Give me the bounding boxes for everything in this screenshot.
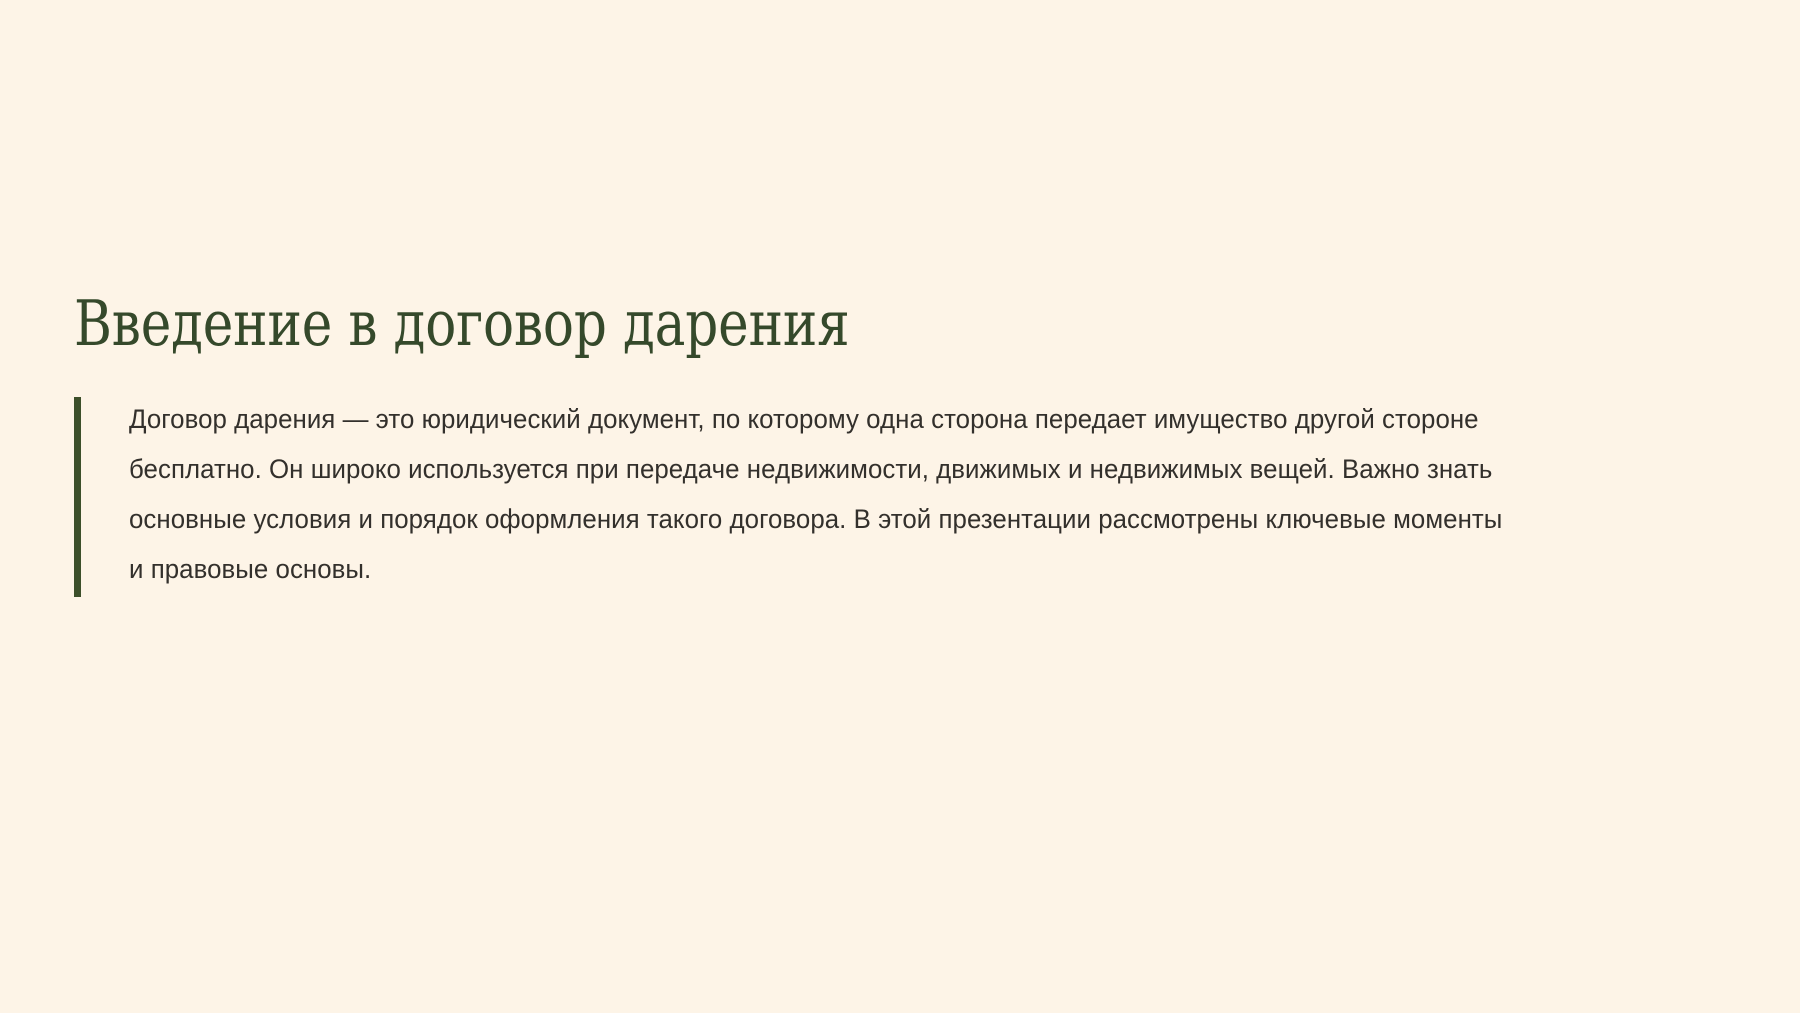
slide-content-area: Введение в договор дарения Договор дарен… [74,290,1734,594]
left-accent-bar [74,397,81,597]
body-quote-block: Договор дарения — это юридический докуме… [74,394,1734,594]
page-title: Введение в договор дарения [74,290,1435,358]
body-paragraph: Договор дарения — это юридический докуме… [129,394,1523,594]
presentation-slide: Введение в договор дарения Договор дарен… [0,0,1800,1013]
